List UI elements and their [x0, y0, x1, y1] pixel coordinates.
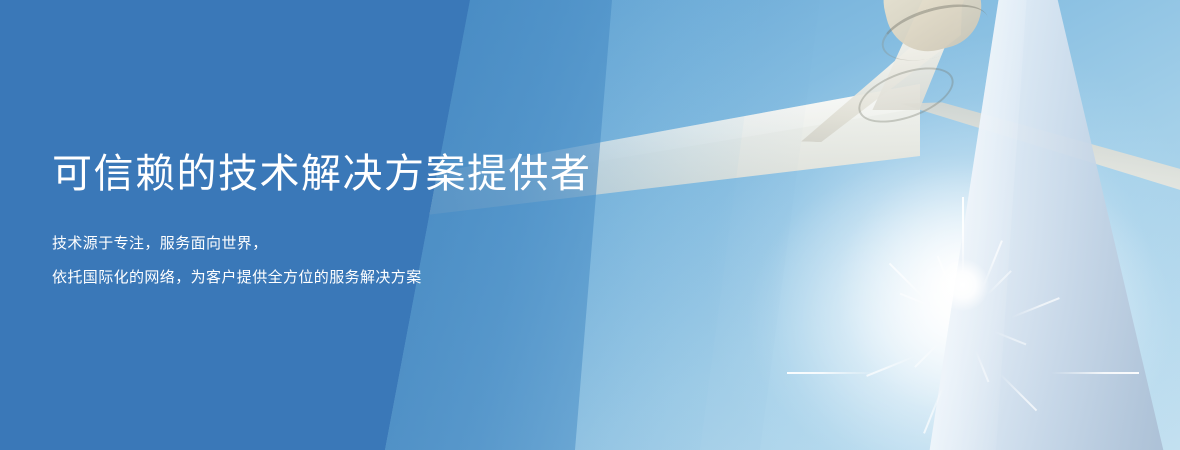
banner-subtitle-line-2: 依托国际化的网络，为客户提供全方位的服务解决方案	[52, 270, 422, 285]
hero-banner: 可信赖的技术解决方案提供者 技术源于专注，服务面向世界， 依托国际化的网络，为客…	[0, 0, 1180, 450]
banner-headline: 可信赖的技术解决方案提供者	[52, 152, 592, 196]
banner-copy: 可信赖的技术解决方案提供者 技术源于专注，服务面向世界， 依托国际化的网络，为客…	[52, 0, 612, 450]
banner-subtitle-line-1: 技术源于专注，服务面向世界，	[52, 236, 268, 251]
